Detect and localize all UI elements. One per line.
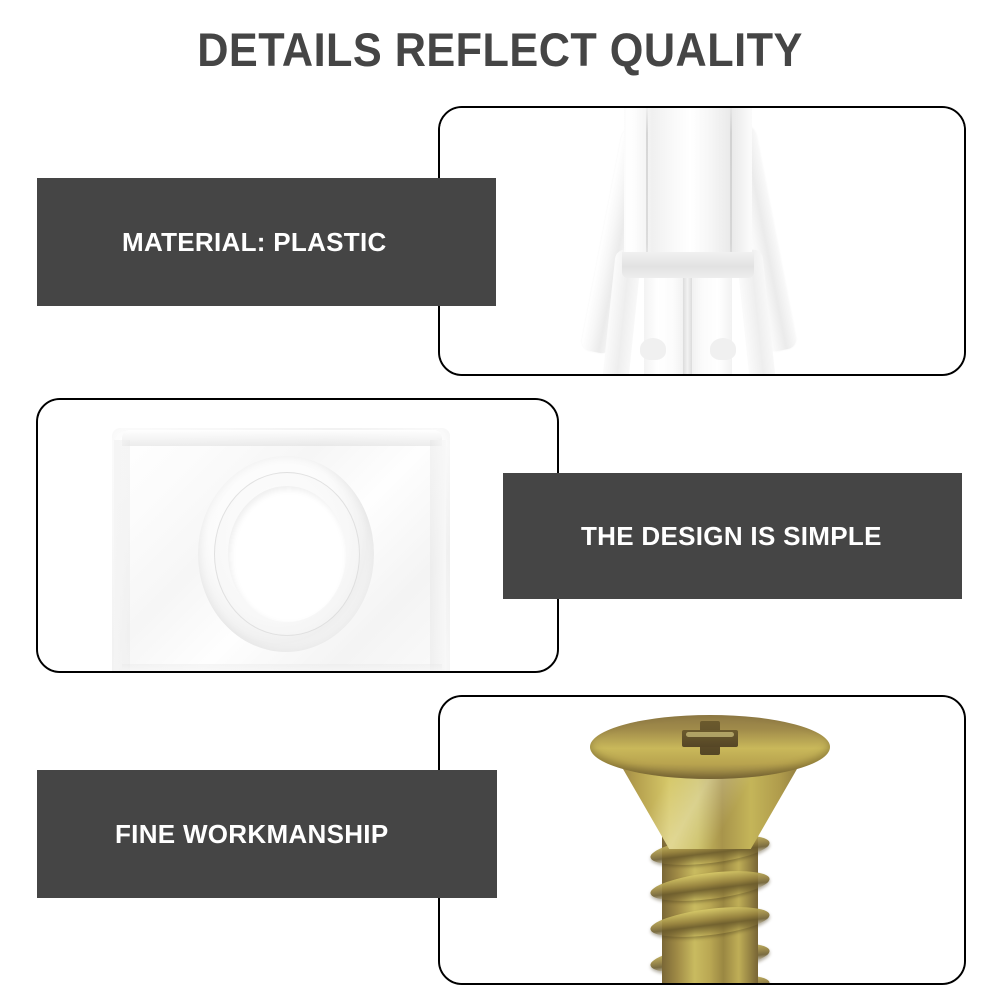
- photo-screw: [440, 697, 964, 983]
- spacer-bevel-bottom: [122, 664, 442, 673]
- product-photo-card-anchor: [438, 106, 966, 376]
- screw-illustration: [590, 715, 830, 985]
- feature-label-fine: FINE WORKMANSHIP: [115, 819, 388, 850]
- photo-spacer: [38, 400, 557, 671]
- spacer-center-hole: [228, 486, 346, 622]
- clear-spacer-illustration: [112, 428, 452, 673]
- plastic-anchor-illustration: [540, 106, 840, 376]
- spacer-bevel-top: [122, 430, 442, 446]
- anchor-barb-right: [710, 338, 736, 360]
- page-title: DETAILS REFLECT QUALITY: [40, 22, 960, 77]
- spacer-bevel-left: [114, 440, 130, 672]
- anchor-collar: [622, 252, 754, 278]
- anchor-barb-left: [640, 338, 666, 360]
- feature-banner-fine: FINE WORKMANSHIP: [37, 770, 497, 898]
- anchor-center-slot: [683, 274, 692, 376]
- product-photo-card-screw: [438, 695, 966, 985]
- photo-anchor: [440, 108, 964, 374]
- feature-banner-design: THE DESIGN IS SIMPLE: [503, 473, 962, 599]
- anchor-body-edge-right: [730, 106, 732, 274]
- anchor-body-edge-left: [646, 106, 648, 274]
- feature-label-design: THE DESIGN IS SIMPLE: [581, 521, 882, 552]
- screw-phillips-highlight: [686, 732, 734, 737]
- anchor-body: [624, 106, 752, 274]
- feature-banner-material: MATERIAL: PLASTIC: [37, 178, 496, 306]
- feature-label-material: MATERIAL: PLASTIC: [122, 227, 387, 258]
- product-photo-card-spacer: [36, 398, 559, 673]
- spacer-bevel-right: [430, 440, 446, 672]
